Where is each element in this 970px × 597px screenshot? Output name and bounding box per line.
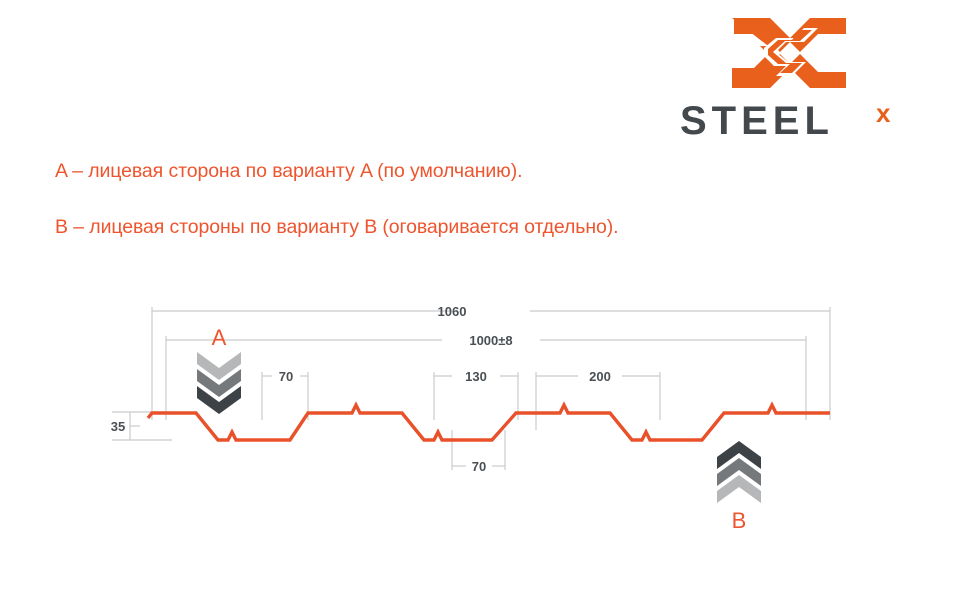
dimension-label-pitch-130: 130 <box>465 369 487 384</box>
brand-logo: STEEL x <box>680 14 910 144</box>
marker-b: B <box>717 441 761 533</box>
dimension-label-profile-height: 35 <box>111 419 125 434</box>
dimension-label-pitch-200: 200 <box>589 369 611 384</box>
brand-wordmark: STEEL x <box>680 100 910 144</box>
corrugated-profile-path <box>148 405 830 440</box>
dimension-label-useful-width: 1000±8 <box>469 333 512 348</box>
caption-variant-a: A – лицевая сторона по варианту A (по ум… <box>55 160 522 183</box>
brand-superscript-text: x <box>876 100 891 128</box>
marker-a-letter: A <box>212 325 227 350</box>
steelx-x-logo-icon <box>730 14 850 92</box>
dimension-label-crest-top: 70 <box>279 369 293 384</box>
profile-cross-section-drawing: 1060 1000±8 70 130 200 70 35 A B <box>0 280 970 560</box>
marker-a: A <box>197 325 241 414</box>
chevron-down-triple-icon <box>197 352 241 414</box>
brand-name-text: STEEL <box>680 100 834 143</box>
caption-variant-b: B – лицевая стороны по варианту B (огова… <box>55 216 618 239</box>
dimension-label-valley-bottom: 70 <box>472 459 486 474</box>
chevron-up-triple-icon <box>717 441 761 503</box>
dimension-label-overall-width: 1060 <box>438 304 467 319</box>
marker-b-letter: B <box>732 508 747 533</box>
